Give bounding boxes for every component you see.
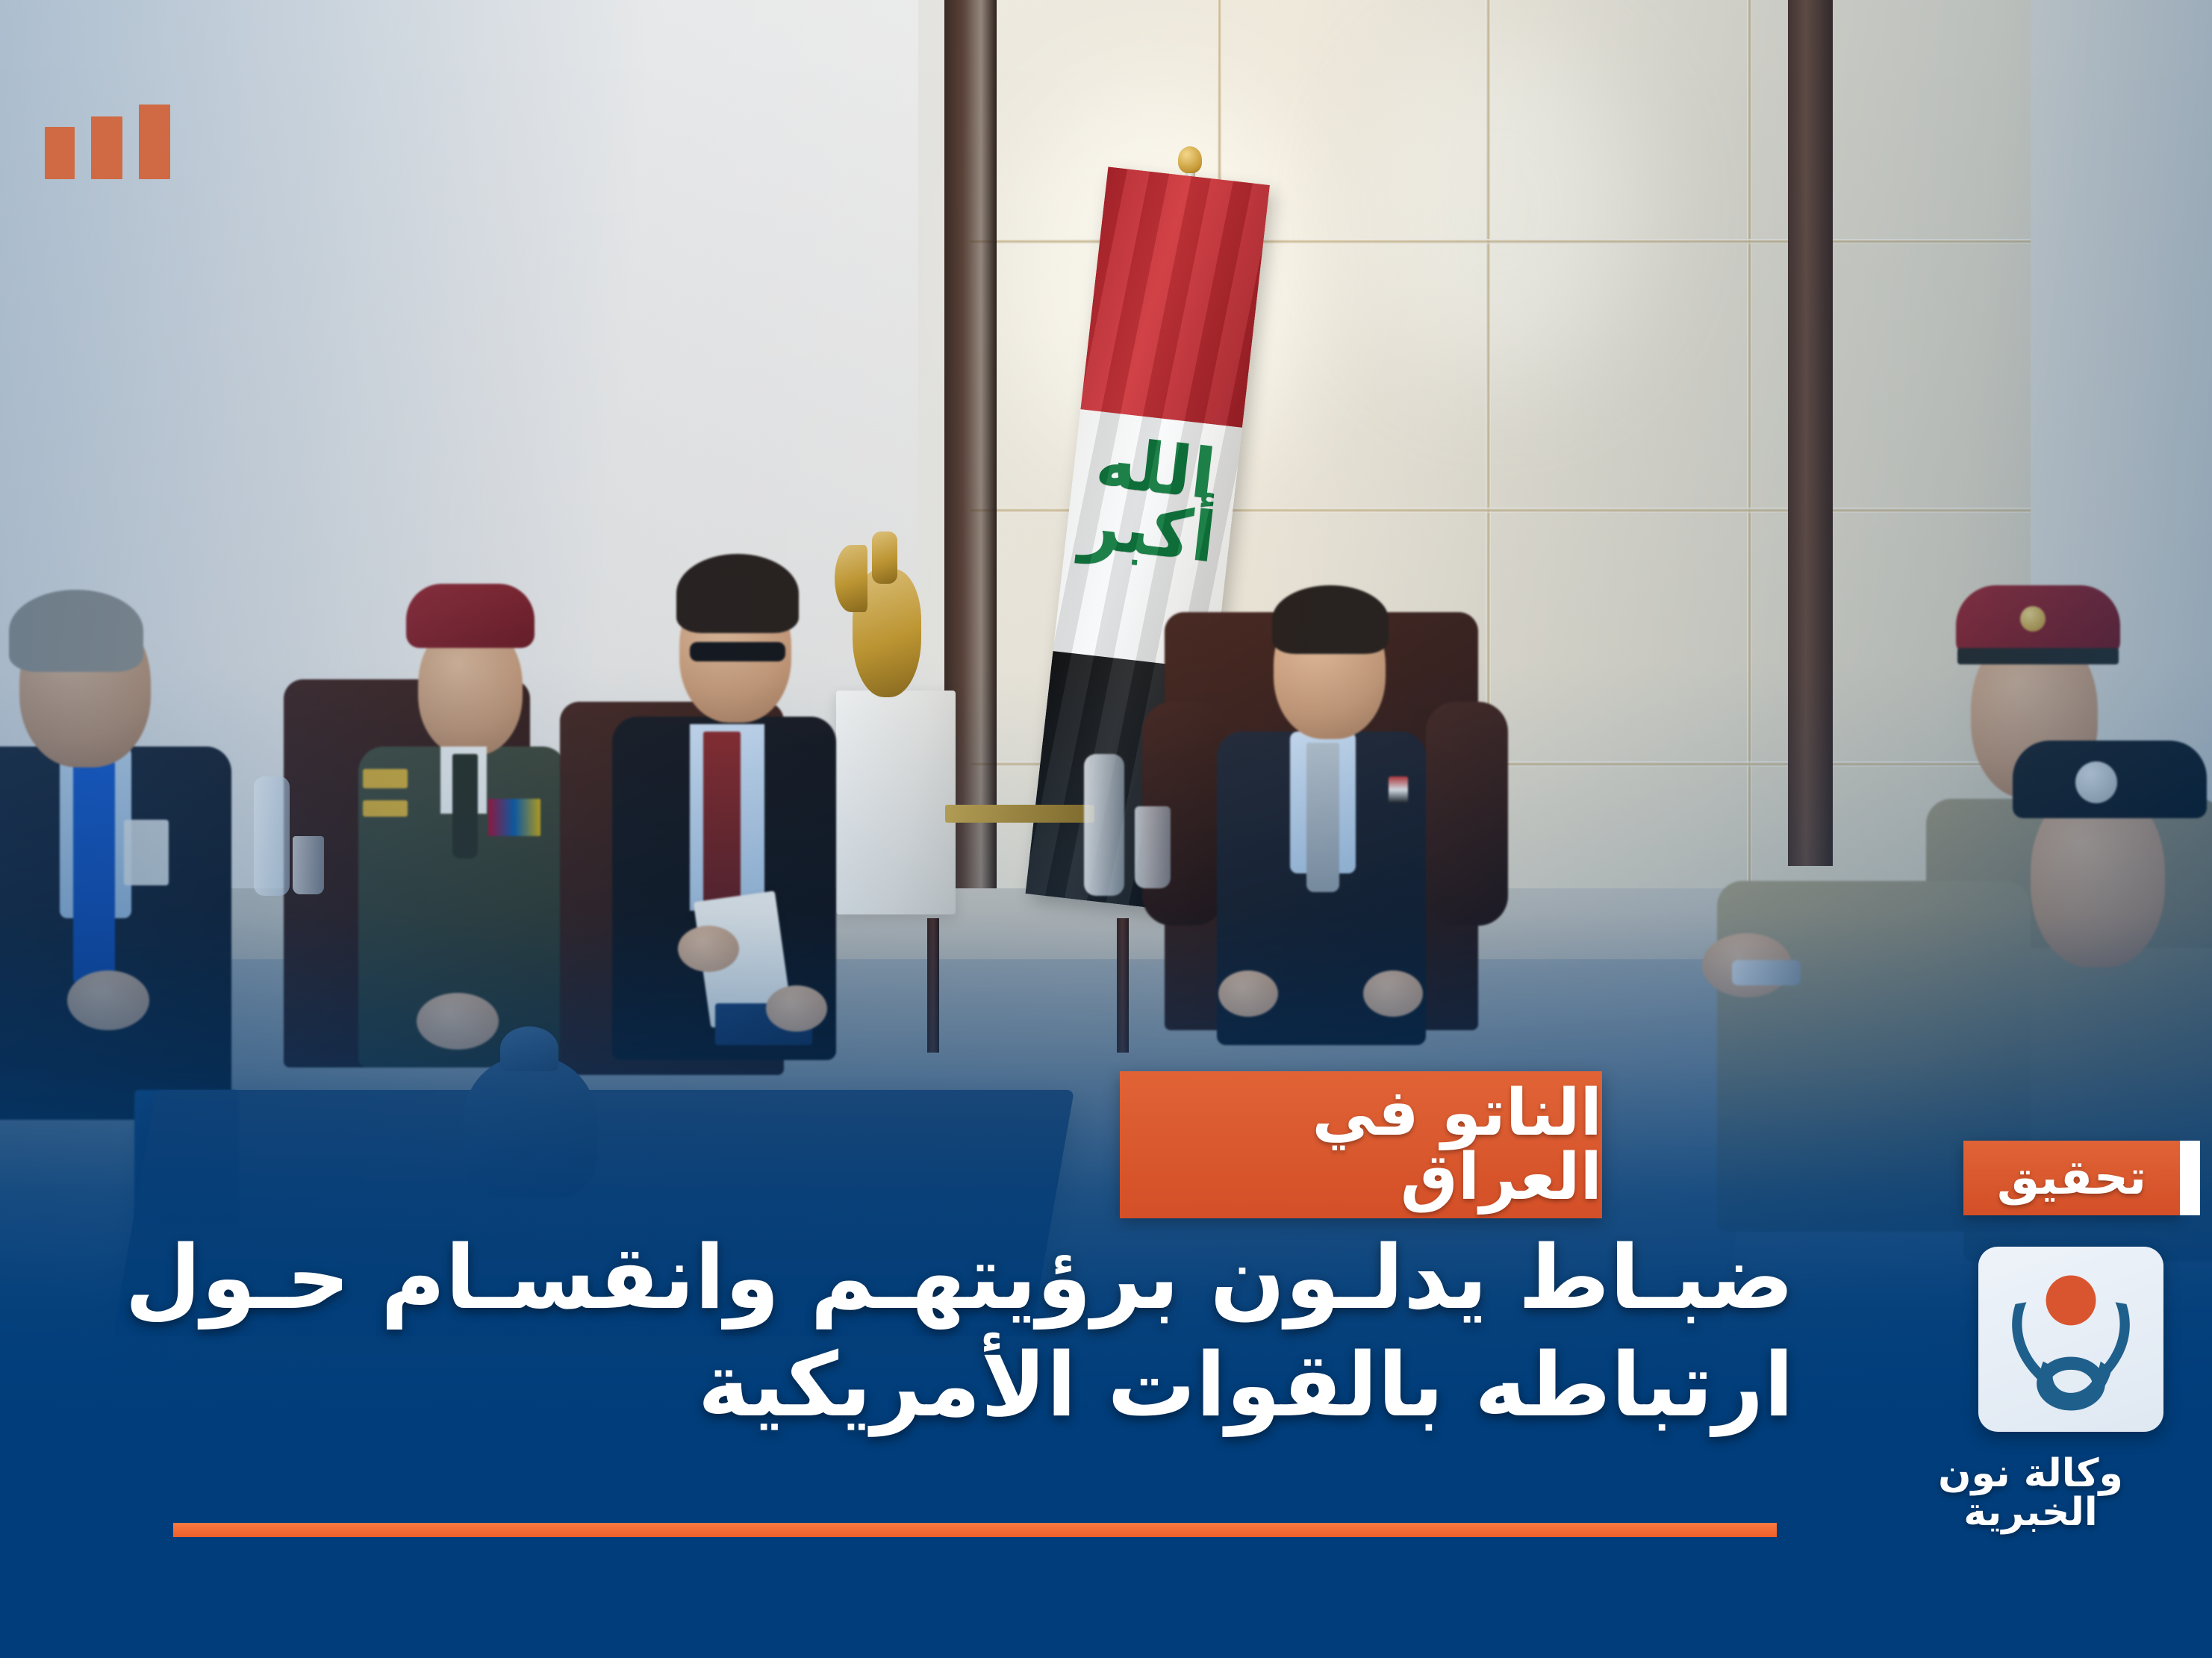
- brand-block: تحقيق وكالة نون الخبرية: [1866, 1141, 2180, 1532]
- category-badge: تحقيق: [1963, 1141, 2180, 1215]
- category-badge-label: تحقيق: [1997, 1154, 2146, 1202]
- news-card: الله أكبر: [0, 0, 2212, 1658]
- noon-agency-logo-icon[interactable]: [1978, 1247, 2163, 1432]
- headline-underline: [173, 1523, 1777, 1537]
- headline: ضبـاط يدلـون برؤيتهـم وانقسـام حـول ارتب…: [90, 1224, 1794, 1439]
- headline-line-1: ضبـاط يدلـون برؤيتهـم وانقسـام حـول: [90, 1224, 1794, 1332]
- kicker-badge: الناتو في العراق: [1120, 1071, 1602, 1218]
- headline-line-2: ارتباطه بالقوات الأمريكية: [90, 1332, 1794, 1439]
- three-bars-logo-icon: [45, 105, 170, 179]
- kicker-label: الناتو في العراق: [1120, 1081, 1602, 1209]
- agency-name: وكالة نون الخبرية: [1881, 1454, 2180, 1532]
